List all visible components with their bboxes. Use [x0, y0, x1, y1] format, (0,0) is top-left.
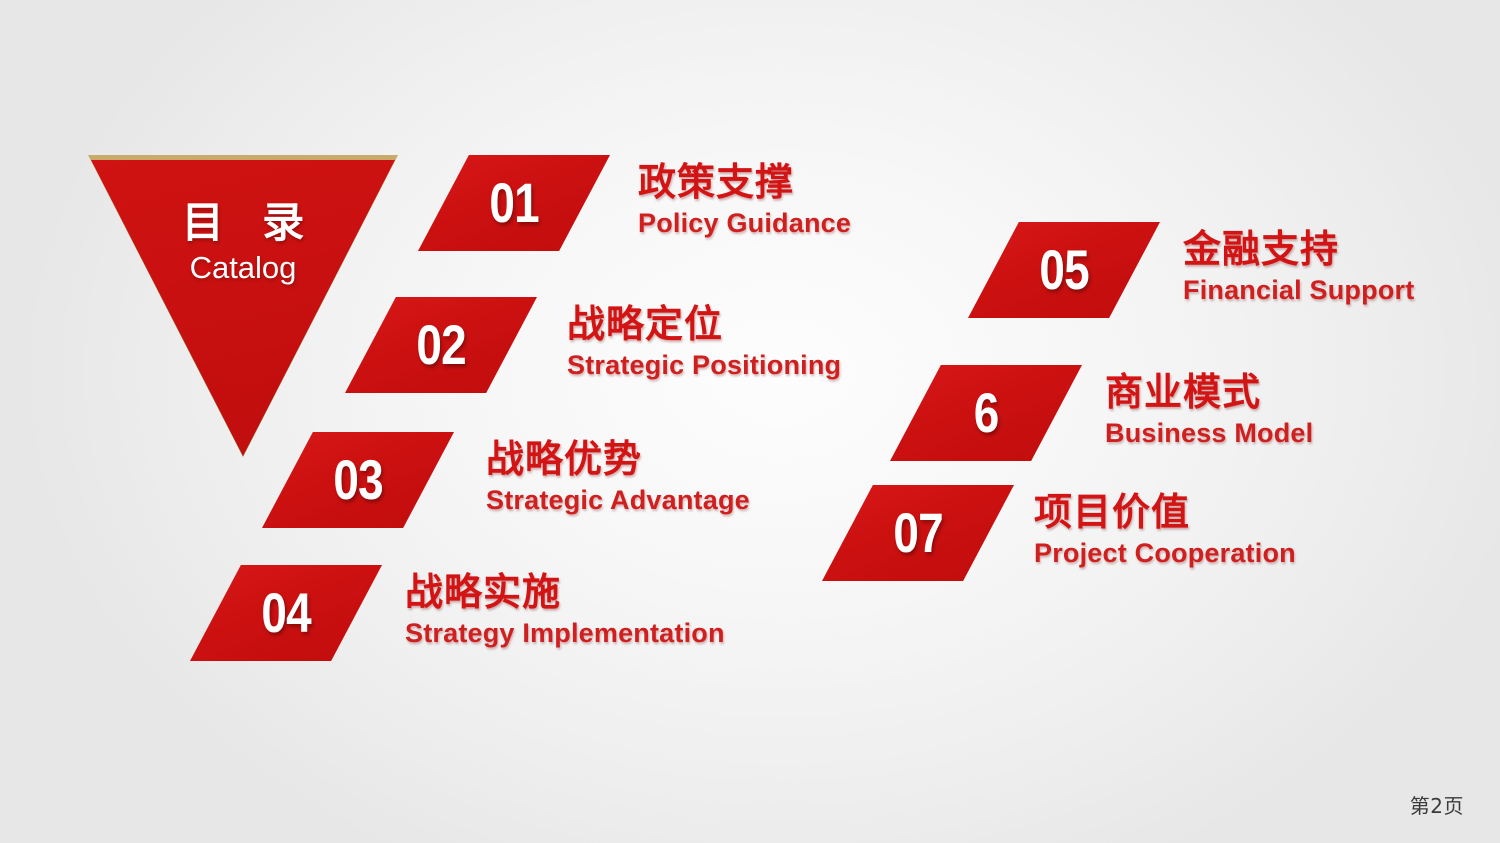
toc-labels-04: 战略实施 Strategy Implementation — [405, 571, 925, 649]
toc-number-06: 6 — [890, 385, 1082, 441]
toc-title-en-05: Financial Support — [1183, 274, 1500, 306]
toc-number-04: 04 — [190, 585, 382, 641]
toc-title-cn-06: 商业模式 — [1105, 371, 1500, 414]
toc-title-en-04: Strategy Implementation — [405, 617, 925, 649]
toc-number-05: 05 — [968, 242, 1160, 298]
toc-labels-07: 项目价值 Project Cooperation — [1034, 491, 1494, 569]
toc-title-cn-03: 战略优势 — [486, 438, 946, 481]
toc-title-cn-02: 战略定位 — [567, 303, 1027, 346]
triangle-red-body — [91, 160, 395, 456]
catalog-triangle: 目 录 Catalog — [88, 155, 398, 457]
toc-labels-06: 商业模式 Business Model — [1105, 371, 1500, 449]
page-number: 第2页 — [1410, 790, 1464, 819]
toc-title-en-07: Project Cooperation — [1034, 537, 1494, 569]
toc-title-cn-05: 金融支持 — [1183, 228, 1500, 271]
toc-badge-01[interactable]: 01 — [418, 155, 610, 251]
toc-number-03: 03 — [262, 452, 454, 508]
toc-badge-04[interactable]: 04 — [190, 565, 382, 661]
toc-title-cn-07: 项目价值 — [1034, 491, 1494, 534]
toc-title-en-06: Business Model — [1105, 417, 1500, 449]
slide-canvas: 目 录 Catalog 01 政策支撑 Policy Guidance 02 战… — [0, 0, 1500, 843]
toc-title-cn-01: 政策支撑 — [638, 161, 1098, 204]
toc-labels-05: 金融支持 Financial Support — [1183, 228, 1500, 306]
toc-number-01: 01 — [418, 175, 610, 231]
